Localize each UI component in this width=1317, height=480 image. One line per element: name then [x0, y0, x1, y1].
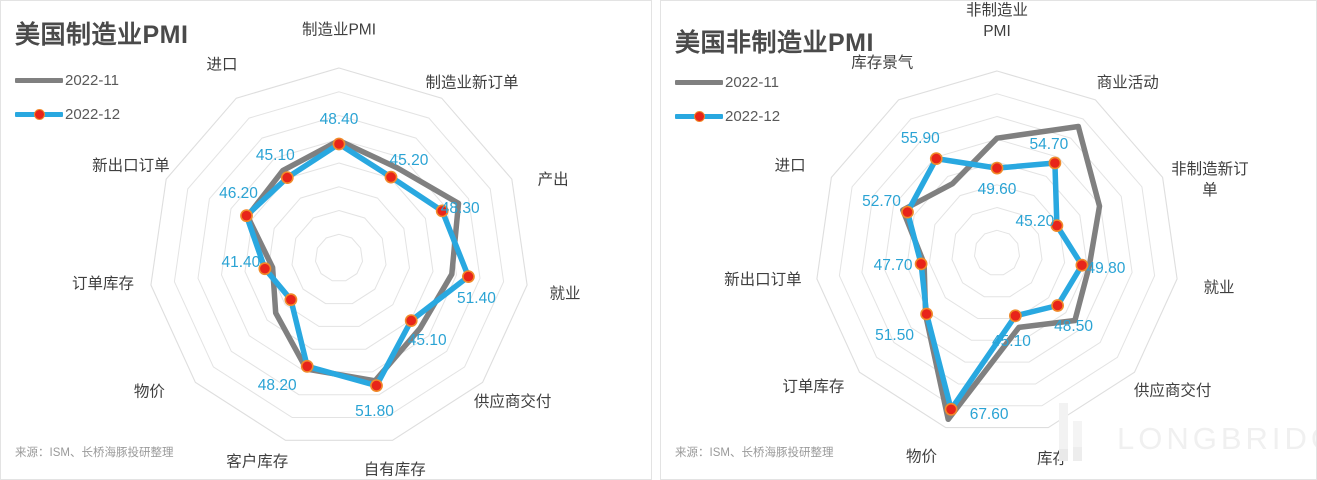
value-label-1: 45.20 — [390, 152, 429, 170]
axis-label-3: 就业 — [1204, 278, 1235, 299]
value-label-10: 55.90 — [901, 130, 940, 148]
value-label-2: 48.30 — [441, 200, 480, 218]
axis-label-10: 库存景气 — [851, 53, 913, 74]
value-label-4: 45.10 — [408, 332, 447, 350]
axis-label-5: 库存 — [1037, 449, 1068, 470]
value-label-3: 49.80 — [1087, 260, 1126, 278]
axis-label-10: 进口 — [206, 55, 237, 76]
axis-label-1: 制造业新订单 — [426, 73, 519, 94]
value-label-10: 45.10 — [256, 147, 295, 165]
axis-label-9: 进口 — [775, 156, 806, 177]
value-label-0: 49.60 — [978, 181, 1017, 199]
axis-label-2: 非制造新订 单 — [1171, 159, 1249, 201]
axis-label-8: 订单库存 — [72, 274, 134, 295]
dashboard: 美国制造业PMI 2022-11 2022-12 制造业PMI制造业新订单产出就… — [0, 0, 1317, 480]
panel-manufacturing-pmi: 美国制造业PMI 2022-11 2022-12 制造业PMI制造业新订单产出就… — [0, 0, 652, 480]
source-note: 来源：ISM、长桥海豚投研整理 — [675, 444, 833, 460]
axis-label-7: 物价 — [134, 381, 165, 402]
axis-label-7: 订单库存 — [782, 377, 844, 398]
value-label-4: 48.50 — [1054, 318, 1093, 336]
source-note: 来源：ISM、长桥海豚投研整理 — [15, 444, 173, 460]
value-label-5: 45.10 — [992, 333, 1031, 351]
axis-label-3: 就业 — [549, 284, 580, 305]
axis-label-1: 商业活动 — [1097, 73, 1159, 94]
axis-label-2: 产出 — [538, 169, 569, 190]
value-label-6: 67.60 — [970, 406, 1009, 424]
axis-label-4: 供应商交付 — [474, 391, 552, 412]
value-label-3: 51.40 — [457, 290, 496, 308]
panel-nonmanufacturing-pmi: 美国非制造业PMI 2022-11 2022-12 非制造业 PMI商业活动非制… — [660, 0, 1317, 480]
axis-label-0: 非制造业 PMI — [966, 0, 1028, 42]
value-label-8: 41.40 — [221, 254, 260, 272]
value-label-0: 48.40 — [320, 111, 359, 129]
value-label-9: 52.70 — [862, 193, 901, 211]
value-label-7: 51.50 — [875, 327, 914, 345]
axis-label-0: 制造业PMI — [302, 20, 376, 41]
axis-label-6: 客户库存 — [226, 451, 288, 472]
value-label-5: 51.80 — [355, 403, 394, 421]
value-label-8: 47.70 — [874, 257, 913, 275]
axis-label-5: 自有库存 — [364, 459, 426, 480]
axis-label-8: 新出口订单 — [724, 270, 802, 291]
axis-label-9: 新出口订单 — [92, 155, 170, 176]
radar-chart-manufacturing — [1, 1, 652, 480]
value-label-1: 54.70 — [1029, 136, 1068, 154]
axis-label-6: 物价 — [906, 447, 937, 468]
value-label-6: 48.20 — [258, 377, 297, 395]
value-label-9: 46.20 — [219, 185, 258, 203]
axis-label-4: 供应商交付 — [1134, 381, 1212, 402]
value-label-2: 45.20 — [1016, 213, 1055, 231]
